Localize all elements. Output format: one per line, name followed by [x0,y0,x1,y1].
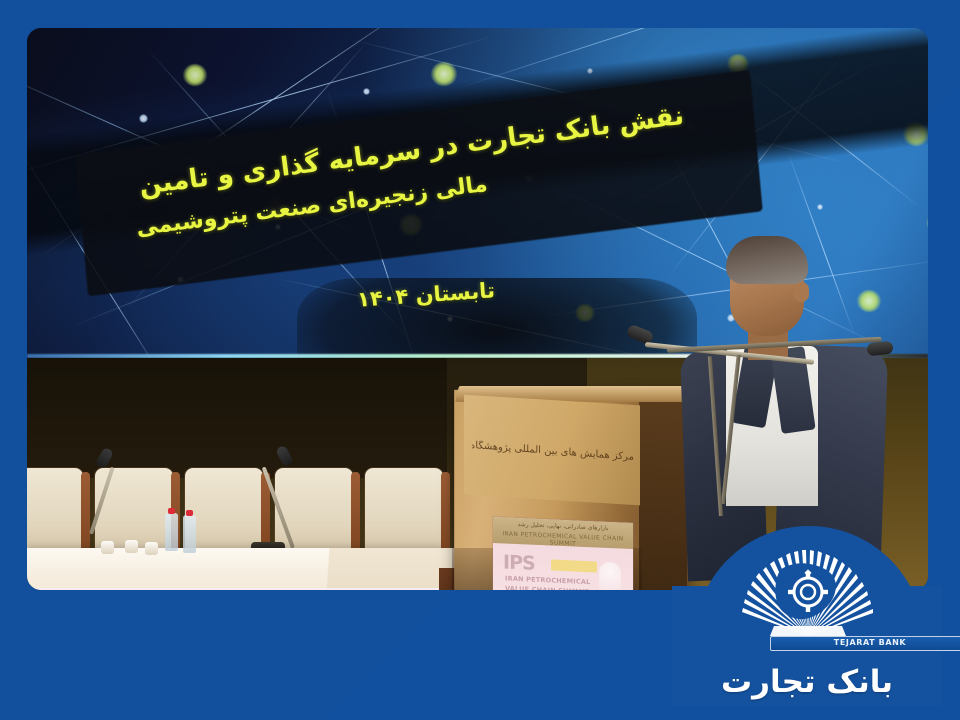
bank-logo-block: TEJARAT BANK بانک تجارت [672,526,942,706]
cup [101,541,114,554]
cup [145,542,158,555]
event-banner: بازارهای صادراتی، نهایی، تحلیل رشد IRAN … [493,517,633,590]
ips-logo-text: IPS [503,551,535,574]
water-bottle [183,515,196,553]
bank-ribbon: TEJARAT BANK [770,636,960,651]
banner-badge [551,559,597,572]
bank-ribbon-text: TEJARAT BANK [771,638,960,647]
banner-edition-number: 3 [503,589,518,590]
bank-name-persian: بانک تجارت [672,664,942,700]
emblem-rays-icon [734,540,882,640]
banner-emblem-icon [599,562,621,590]
ear [794,282,809,302]
tejarat-bank-sunburst-emblem: TEJARAT BANK [734,540,882,656]
water-bottle [165,513,178,551]
hair [726,236,808,284]
stage-wall-left-shadow [27,358,447,478]
event-photo: نقش بانک تجارت در سرمایه گذاری و تامین م… [27,28,928,590]
outer-blue-frame: نقش بانک تجارت در سرمایه گذاری و تامین م… [0,0,960,720]
table-skirt [27,588,457,590]
cup [125,540,138,553]
